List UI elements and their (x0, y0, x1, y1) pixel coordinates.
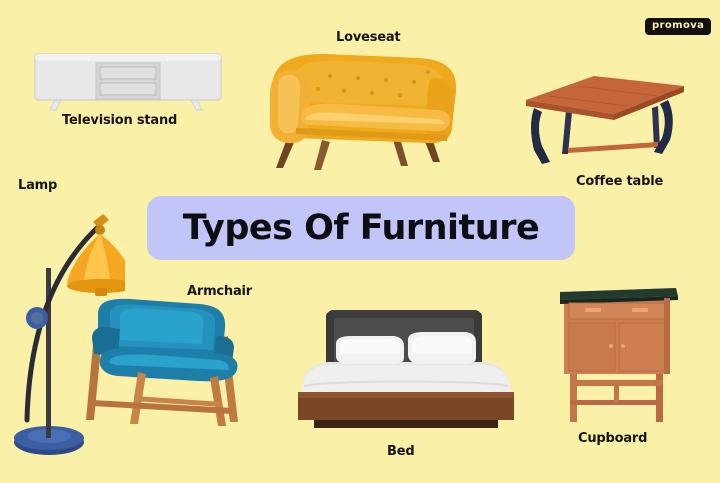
coffee-table-illustration (508, 68, 700, 175)
cupboard-illustration (552, 282, 684, 435)
label-television-stand: Television stand (62, 113, 177, 128)
label-bed: Bed (387, 444, 414, 459)
furniture-poster: promova Television stand (0, 0, 720, 480)
page-title: Types Of Furniture (183, 208, 539, 248)
armchair-illustration (68, 296, 256, 433)
label-coffee-table: Coffee table (576, 174, 663, 189)
label-loveseat: Loveseat (336, 30, 400, 45)
bed-illustration (288, 296, 524, 441)
television-stand-illustration (30, 46, 226, 117)
label-lamp: Lamp (18, 178, 57, 193)
loveseat-illustration (252, 44, 468, 177)
label-armchair: Armchair (187, 284, 252, 299)
title-banner: Types Of Furniture (147, 196, 575, 260)
label-cupboard: Cupboard (578, 431, 647, 446)
promova-logo: promova (645, 18, 711, 35)
